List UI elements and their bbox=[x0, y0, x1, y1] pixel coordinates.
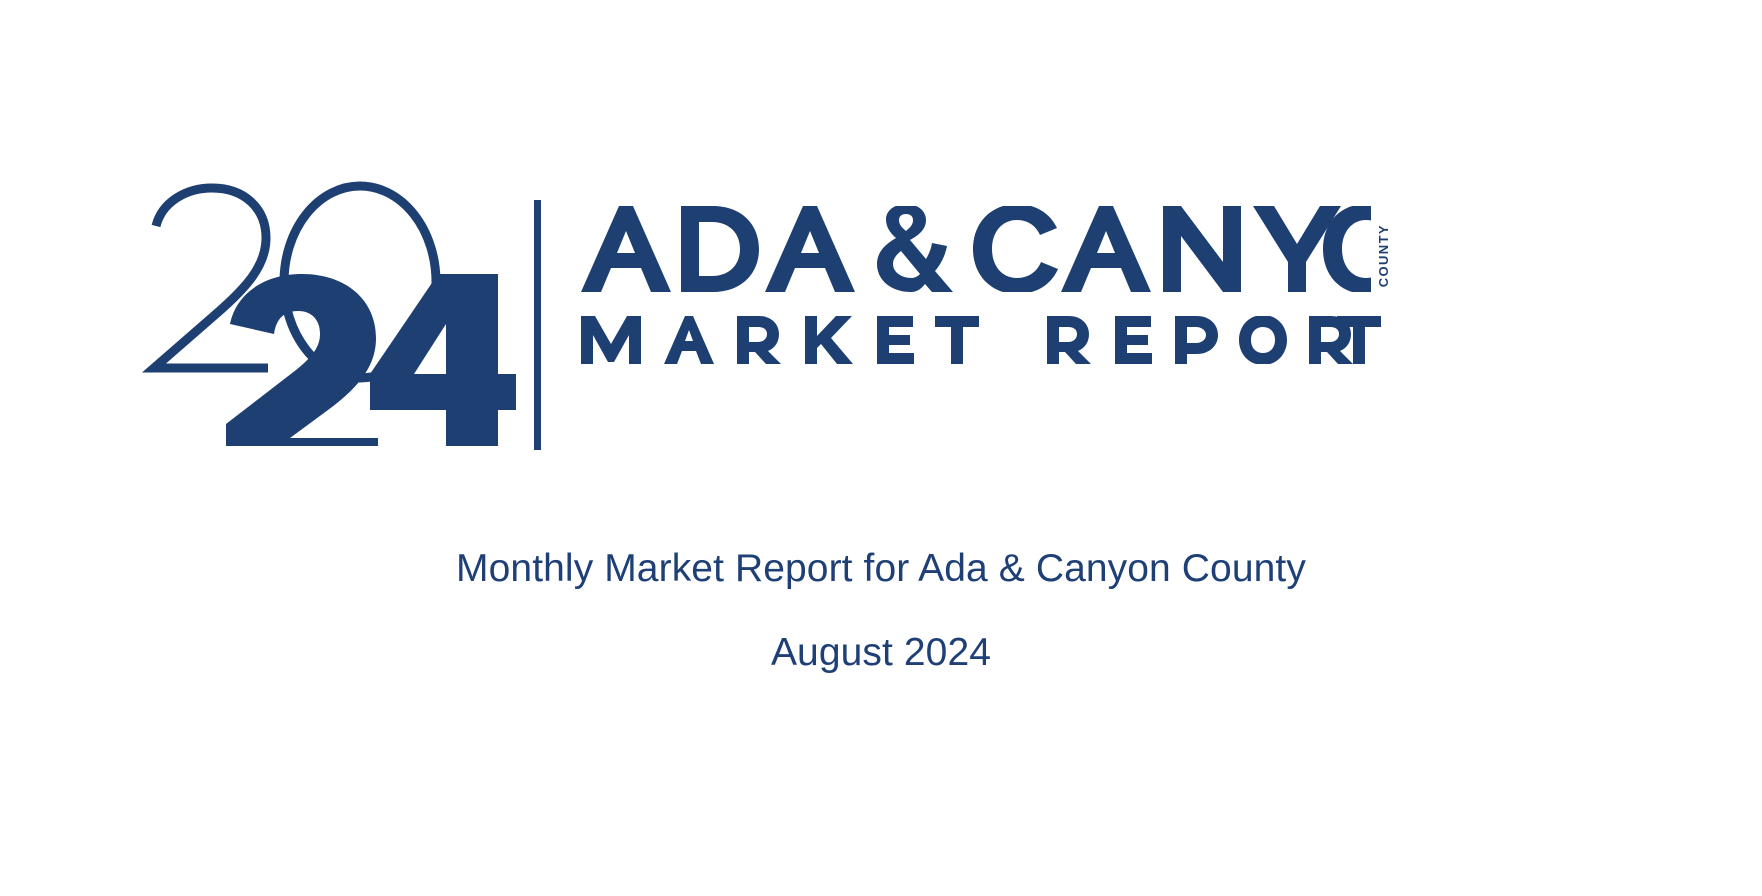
wordmark-county-superscript: COUNTY bbox=[1377, 224, 1390, 287]
logo-wordmark-group: COUNTY bbox=[581, 206, 1390, 364]
logo-divider-rule bbox=[534, 200, 541, 450]
wordmark-market-report bbox=[581, 316, 1381, 364]
wordmark-primary-row: COUNTY bbox=[581, 206, 1390, 292]
report-logo: COUNTY bbox=[0, 178, 1762, 468]
report-subtitle-block: Monthly Market Report for Ada & Canyon C… bbox=[0, 548, 1762, 675]
report-cover-slide: COUNTY bbox=[0, 0, 1762, 896]
wordmark-ada-and-canyon bbox=[581, 206, 1371, 292]
report-subtitle-line: Monthly Market Report for Ada & Canyon C… bbox=[0, 548, 1762, 591]
logo-year-mark-2024 bbox=[138, 178, 516, 446]
logo-year-solid-24 bbox=[226, 274, 516, 446]
report-period-line: August 2024 bbox=[0, 632, 1762, 675]
